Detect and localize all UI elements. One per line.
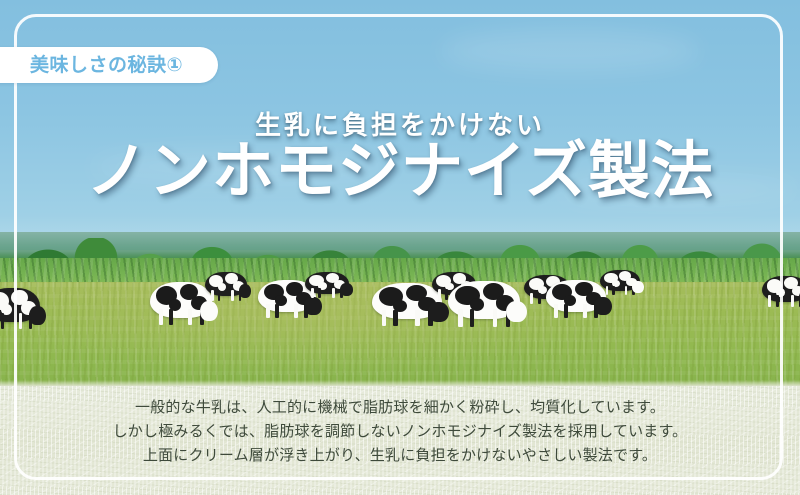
cow-leg xyxy=(211,290,214,301)
product-feature-banner: 美味しさの秘訣① 生乳に負担をかけない ノンホモジナイズ製法 一般的な牛乳は、人… xyxy=(0,0,800,495)
cow-leg xyxy=(493,309,498,326)
cow-leg xyxy=(188,309,192,326)
cow-head xyxy=(632,281,644,293)
cow-leg xyxy=(415,310,420,327)
caption-line: しかし極みるくでは、脂肪球を調節しないノンホモジナイズ製法を採用しています。 xyxy=(0,420,800,444)
cow xyxy=(546,280,606,312)
cow-leg xyxy=(625,286,628,296)
cow xyxy=(762,276,800,302)
cow-leg xyxy=(393,310,398,327)
cow-leg xyxy=(159,309,163,326)
cow-leg xyxy=(231,290,234,301)
section-badge: 美味しさの秘訣① xyxy=(0,47,218,83)
cow-leg xyxy=(791,295,794,307)
cow-leg xyxy=(1,313,5,329)
cow-leg xyxy=(564,304,568,319)
caption-line: 一般的な牛乳は、人工的に機械で脂肪球を細かく粉砕し、均質化しています。 xyxy=(0,396,800,420)
cow-leg xyxy=(768,295,771,307)
cow xyxy=(0,288,40,322)
cow-leg xyxy=(318,288,321,298)
cow-head xyxy=(594,297,612,315)
cow-leg xyxy=(583,304,587,319)
cow-leg xyxy=(458,309,463,326)
caption-line: 上面にクリーム層が浮き上がり、生乳に負担をかけないやさしい製法です。 xyxy=(0,444,800,468)
cow-head xyxy=(200,301,219,321)
cow xyxy=(205,272,247,296)
cow-leg xyxy=(275,304,279,319)
cow-head xyxy=(29,306,46,325)
cow-leg xyxy=(470,309,475,326)
cow-leg xyxy=(311,288,314,298)
cow-leg xyxy=(612,286,615,296)
cow-head xyxy=(239,284,252,297)
cow xyxy=(150,282,212,318)
cow-leg xyxy=(19,313,23,329)
cow-head xyxy=(506,301,528,322)
cow xyxy=(448,281,520,319)
cow-leg xyxy=(606,286,609,296)
cow-leg xyxy=(266,304,270,319)
cow-head xyxy=(428,302,449,322)
cow-leg xyxy=(382,310,387,327)
cow xyxy=(305,272,349,294)
cow-leg xyxy=(776,295,779,307)
cow-leg xyxy=(554,304,558,319)
cow-leg xyxy=(218,290,221,301)
section-badge-label: 美味しさの秘訣① xyxy=(30,56,183,75)
caption-block: 一般的な牛乳は、人工的に機械で脂肪球を細かく粉砕し、均質化しています。しかし極み… xyxy=(0,396,800,468)
cow-head xyxy=(304,297,321,315)
cow-leg xyxy=(438,289,441,300)
cow-leg xyxy=(294,304,298,319)
cow-leg xyxy=(332,288,335,298)
cow xyxy=(600,270,640,291)
cloud-wisp xyxy=(440,30,700,72)
cow-leg xyxy=(169,309,173,326)
cow-leg xyxy=(530,293,533,304)
cow-head xyxy=(340,283,353,295)
banner-headline: ノンホモジナイズ製法 xyxy=(0,140,800,204)
cow-leg xyxy=(538,293,541,304)
